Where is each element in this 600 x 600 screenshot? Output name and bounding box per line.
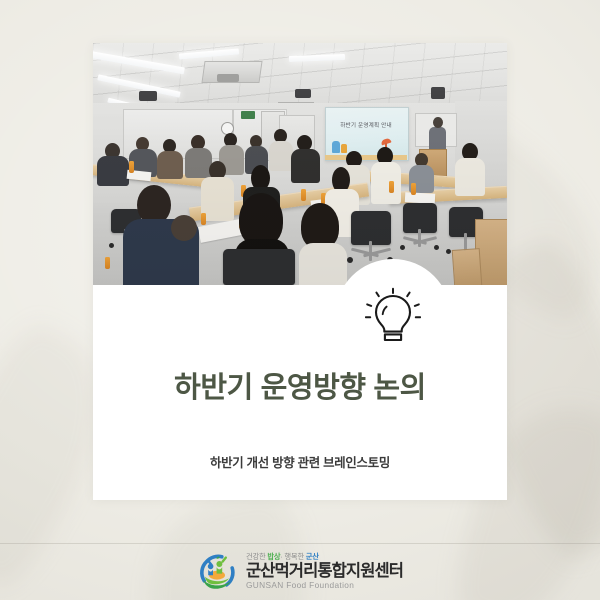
page-title: 하반기 운영방향 논의 [93,371,507,406]
poster-canvas: 하반기 운영계획 안내 [0,0,600,600]
lightbulb-badge [335,259,451,375]
meeting-photo: 하반기 운영계획 안내 [93,43,507,285]
logo-tagline-pre: 건강한 [246,552,267,561]
logo-tagline: 건강한 밥상· 행복한 군산 [246,553,403,560]
organization-name-en: GUNSAN Food Foundation [246,581,403,589]
footer: 건강한 밥상· 행복한 군산 군산먹거리통합지원센터 GUNSAN Food F… [0,543,600,600]
gunsan-food-foundation-logo-icon [197,552,237,592]
organization-name: 군산먹거리통합지원센터 [246,563,403,580]
logo-tagline-blue: 군산 [306,552,319,561]
logo-text-block: 건강한 밥상· 행복한 군산 군산먹거리통합지원센터 GUNSAN Food F… [246,553,403,589]
logo-tagline-mid: · 행복한 [280,552,305,561]
content-card: 하반기 운영계획 안내 [93,43,507,500]
logo-tagline-green: 밥상 [267,552,280,561]
page-subtitle: 하반기 개선 방향 관련 브레인스토밍 [93,453,507,471]
lightbulb-icon [365,287,421,347]
